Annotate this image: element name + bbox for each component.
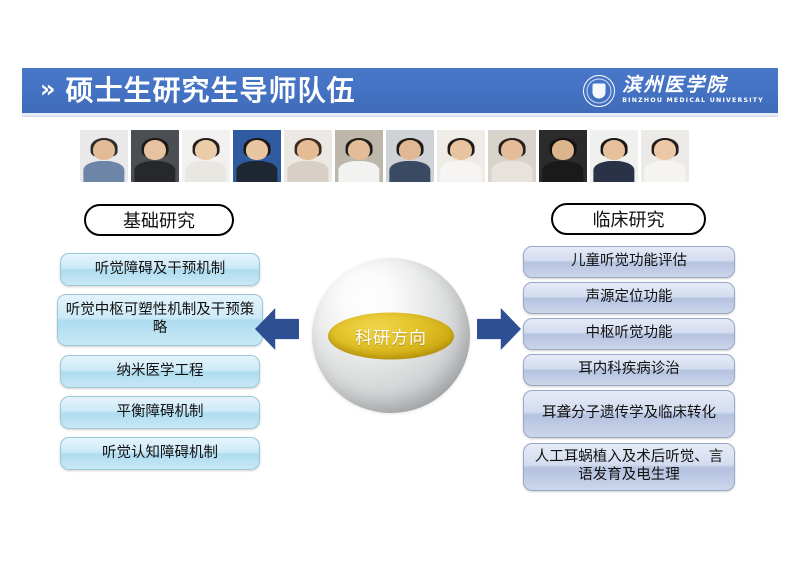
photo-torso	[440, 161, 481, 182]
photo-face	[195, 140, 217, 160]
research-direction-label: 科研方向	[355, 323, 427, 348]
arrow-right-icon	[477, 308, 521, 350]
photo-face	[603, 140, 625, 160]
photo-face	[93, 140, 115, 160]
photo-torso	[134, 161, 175, 182]
clinical-research-item-4[interactable]: 耳内科疾病诊治	[523, 354, 735, 386]
slide-header-bar: » 硕士生研究生导师队伍 滨州医学院 BINZHOU MEDICAL UNIVE…	[22, 68, 778, 113]
faculty-photo	[488, 130, 536, 182]
photo-torso	[287, 161, 328, 182]
photo-torso	[83, 161, 124, 182]
photo-torso	[593, 161, 634, 182]
chevron-double-right-icon: »	[40, 77, 54, 101]
photo-face	[297, 140, 319, 160]
faculty-photo	[233, 130, 281, 182]
photo-face	[246, 140, 268, 160]
faculty-photo	[437, 130, 485, 182]
research-direction-sphere: 科研方向	[312, 258, 470, 413]
photo-torso	[185, 161, 226, 182]
university-name-cn: 滨州医学院	[622, 76, 764, 95]
faculty-photo	[182, 130, 230, 182]
clinical-research-item-1[interactable]: 儿童听觉功能评估	[523, 246, 735, 278]
basic-research-item-4[interactable]: 平衡障碍机制	[60, 396, 260, 429]
slide-canvas: » 硕士生研究生导师队伍 滨州医学院 BINZHOU MEDICAL UNIVE…	[0, 0, 800, 563]
faculty-photo	[80, 130, 128, 182]
faculty-photo-strip	[80, 130, 689, 182]
photo-face	[654, 140, 676, 160]
photo-torso	[542, 161, 583, 182]
basic-research-item-5[interactable]: 听觉认知障碍机制	[60, 437, 260, 470]
faculty-photo	[386, 130, 434, 182]
photo-torso	[389, 161, 430, 182]
clinical-research-item-5[interactable]: 耳聋分子遗传学及临床转化	[523, 390, 735, 438]
photo-torso	[644, 161, 685, 182]
clinical-research-item-6[interactable]: 人工耳蜗植入及术后听觉、言语发育及电生理	[523, 443, 735, 491]
photo-face	[144, 140, 166, 160]
photo-torso	[236, 161, 277, 182]
university-logo-texts: 滨州医学院 BINZHOU MEDICAL UNIVERSITY	[622, 76, 764, 104]
faculty-photo	[335, 130, 383, 182]
research-direction-ellipse: 科研方向	[328, 312, 454, 359]
faculty-photo	[641, 130, 689, 182]
photo-face	[450, 140, 472, 160]
faculty-photo	[590, 130, 638, 182]
basic-research-item-2[interactable]: 听觉中枢可塑性机制及干预策略	[57, 294, 263, 346]
photo-torso	[491, 161, 532, 182]
column-heading-basic-research: 基础研究	[84, 204, 234, 236]
faculty-photo	[131, 130, 179, 182]
page-title: 硕士生研究生导师队伍	[66, 77, 356, 105]
column-heading-clinical-research: 临床研究	[551, 203, 706, 235]
photo-face	[348, 140, 370, 160]
university-name-en: BINZHOU MEDICAL UNIVERSITY	[622, 98, 764, 104]
faculty-photo	[539, 130, 587, 182]
header-underline	[22, 113, 778, 117]
clinical-research-item-3[interactable]: 中枢听觉功能	[523, 318, 735, 350]
photo-torso	[338, 161, 379, 182]
clinical-research-item-2[interactable]: 声源定位功能	[523, 282, 735, 314]
university-crest-icon	[583, 75, 615, 107]
photo-face	[552, 140, 574, 160]
university-logo: 滨州医学院 BINZHOU MEDICAL UNIVERSITY	[583, 75, 764, 107]
photo-face	[399, 140, 421, 160]
photo-face	[501, 140, 523, 160]
basic-research-item-1[interactable]: 听觉障碍及干预机制	[60, 253, 260, 286]
basic-research-item-3[interactable]: 纳米医学工程	[60, 355, 260, 388]
faculty-photo	[284, 130, 332, 182]
